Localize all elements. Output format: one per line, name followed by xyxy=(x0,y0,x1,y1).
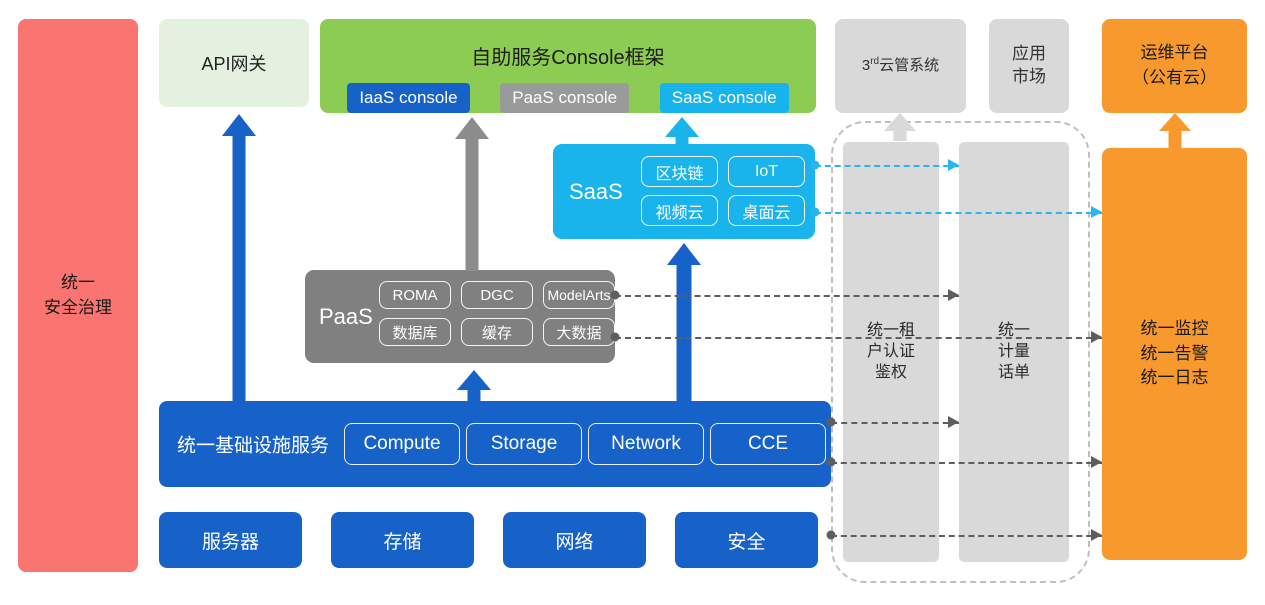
hardware-network-label: 网络 xyxy=(555,527,593,554)
conn-arrow-hardware-monitor xyxy=(1091,529,1102,541)
console-chip-row: IaaS console PaaS console SaaS console xyxy=(320,83,816,113)
architecture-diagram: 统一 安全治理 API网关 自助服务Console框架 IaaS console… xyxy=(0,0,1265,605)
saas-item-desktop-cloud[interactable]: 桌面云 xyxy=(728,195,805,226)
third-cloud-sup: rd xyxy=(870,56,879,67)
conn-line-paas-auth xyxy=(615,295,959,297)
infra-item-storage[interactable]: Storage xyxy=(466,423,582,465)
saas-block[interactable]: SaaS 区块链 IoT 视频云 桌面云 xyxy=(553,144,815,239)
unified-infrastructure-label: 统一基础设施服务 xyxy=(177,431,329,458)
monitor-line-3: 统一日志 xyxy=(1141,366,1209,391)
conn-line-infra-auth xyxy=(831,422,959,424)
self-service-console-frame[interactable]: 自助服务Console框架 IaaS console PaaS console … xyxy=(320,19,816,113)
api-gateway-box[interactable]: API网关 xyxy=(159,19,309,107)
api-gateway-label: API网关 xyxy=(201,50,266,76)
security-line-2: 安全治理 xyxy=(44,296,112,321)
hardware-storage-label: 存储 xyxy=(383,527,421,554)
arrow-zone-to-third-cloud xyxy=(884,113,916,141)
unified-monitoring-panel[interactable]: 统一监控 统一告警 统一日志 xyxy=(1102,148,1247,560)
ops-platform-line-1: 运维平台 xyxy=(1132,41,1217,66)
arrow-infra-to-saas xyxy=(667,243,701,402)
unified-tenant-auth-column[interactable]: 统一租 户认证 鉴权 xyxy=(843,142,939,562)
infra-item-compute[interactable]: Compute xyxy=(344,423,460,465)
conn-arrow-saas-monitor xyxy=(1091,206,1102,218)
app-market-box[interactable]: 应用 市场 xyxy=(989,19,1069,113)
saas-item-video-cloud[interactable]: 视频云 xyxy=(641,195,718,226)
conn-arrow-paas-monitor xyxy=(1091,331,1102,343)
arrow-infra-to-paas xyxy=(457,370,491,402)
paas-item-bigdata[interactable]: 大数据 xyxy=(543,318,615,346)
security-governance-label: 统一 安全治理 xyxy=(44,271,112,320)
saas-item-blockchain[interactable]: 区块链 xyxy=(641,156,718,187)
ops-platform-line-2: （公有云） xyxy=(1132,66,1217,91)
app-market-label: 应用 市场 xyxy=(1012,43,1046,89)
saas-block-label: SaaS xyxy=(569,179,623,205)
conn-arrow-paas-auth xyxy=(948,289,959,301)
hardware-item-security[interactable]: 安全 xyxy=(675,512,818,568)
arrow-saas-to-console xyxy=(665,117,699,145)
paas-block-label: PaaS xyxy=(319,304,373,330)
paas-console-chip[interactable]: PaaS console xyxy=(500,83,629,113)
third-party-cloud-mgmt-box[interactable]: 3rd云管系统 xyxy=(835,19,966,113)
arrow-paas-to-console xyxy=(455,117,489,271)
monitor-line-1: 统一监控 xyxy=(1141,317,1209,342)
third-cloud-prefix: 3 xyxy=(862,57,870,74)
security-governance-panel[interactable]: 统一 安全治理 xyxy=(18,19,138,572)
ops-platform-box[interactable]: 运维平台 （公有云） xyxy=(1102,19,1247,113)
conn-arrow-infra-auth xyxy=(948,416,959,428)
ops-platform-label: 运维平台 （公有云） xyxy=(1132,41,1217,90)
conn-arrow-saas-auth xyxy=(948,159,959,171)
unified-metering-label: 统一 计量 话单 xyxy=(959,321,1069,383)
conn-line-infra-monitor xyxy=(831,462,1102,464)
metering-line-2: 计量 xyxy=(959,342,1069,363)
hardware-item-network[interactable]: 网络 xyxy=(503,512,646,568)
monitor-line-2: 统一告警 xyxy=(1141,342,1209,367)
tenant-auth-line-3: 鉴权 xyxy=(843,362,939,383)
app-market-line-2: 市场 xyxy=(1012,66,1046,89)
unified-metering-column[interactable]: 统一 计量 话单 xyxy=(959,142,1069,562)
app-market-line-1: 应用 xyxy=(1012,43,1046,66)
hardware-item-server[interactable]: 服务器 xyxy=(159,512,302,568)
paas-block[interactable]: PaaS ROMA DGC ModelArts 数据库 缓存 大数据 xyxy=(305,270,615,363)
arrow-infra-to-api-gateway xyxy=(222,114,256,402)
paas-item-modelarts[interactable]: ModelArts xyxy=(543,281,615,309)
paas-item-database[interactable]: 数据库 xyxy=(379,318,451,346)
paas-item-roma[interactable]: ROMA xyxy=(379,281,451,309)
third-cloud-name: 云管系统 xyxy=(879,57,939,74)
conn-line-saas-auth xyxy=(815,165,959,167)
tenant-auth-line-2: 户认证 xyxy=(843,342,939,363)
paas-item-dgc[interactable]: DGC xyxy=(461,281,533,309)
conn-line-hardware-monitor xyxy=(831,535,1102,537)
saas-item-iot[interactable]: IoT xyxy=(728,156,805,187)
infra-item-network[interactable]: Network xyxy=(588,423,704,465)
conn-line-paas-monitor xyxy=(615,337,1102,339)
hardware-item-storage[interactable]: 存储 xyxy=(331,512,474,568)
hardware-server-label: 服务器 xyxy=(202,527,259,554)
hardware-security-label: 安全 xyxy=(727,527,765,554)
unified-infrastructure-bar[interactable]: 统一基础设施服务 Compute Storage Network CCE xyxy=(159,401,831,487)
unified-monitoring-label: 统一监控 统一告警 统一日志 xyxy=(1141,317,1209,391)
security-line-1: 统一 xyxy=(44,271,112,296)
saas-console-chip[interactable]: SaaS console xyxy=(660,83,789,113)
console-frame-title: 自助服务Console框架 xyxy=(320,41,816,70)
paas-item-cache[interactable]: 缓存 xyxy=(461,318,533,346)
infra-item-cce[interactable]: CCE xyxy=(710,423,826,465)
iaas-console-chip[interactable]: IaaS console xyxy=(347,83,469,113)
conn-arrow-infra-monitor xyxy=(1091,456,1102,468)
unified-tenant-auth-label: 统一租 户认证 鉴权 xyxy=(843,321,939,383)
metering-line-3: 话单 xyxy=(959,362,1069,383)
arrow-zone-to-ops-platform xyxy=(1159,113,1191,149)
conn-line-saas-monitor xyxy=(815,212,1102,214)
third-cloud-label: 3rd云管系统 xyxy=(862,55,939,76)
